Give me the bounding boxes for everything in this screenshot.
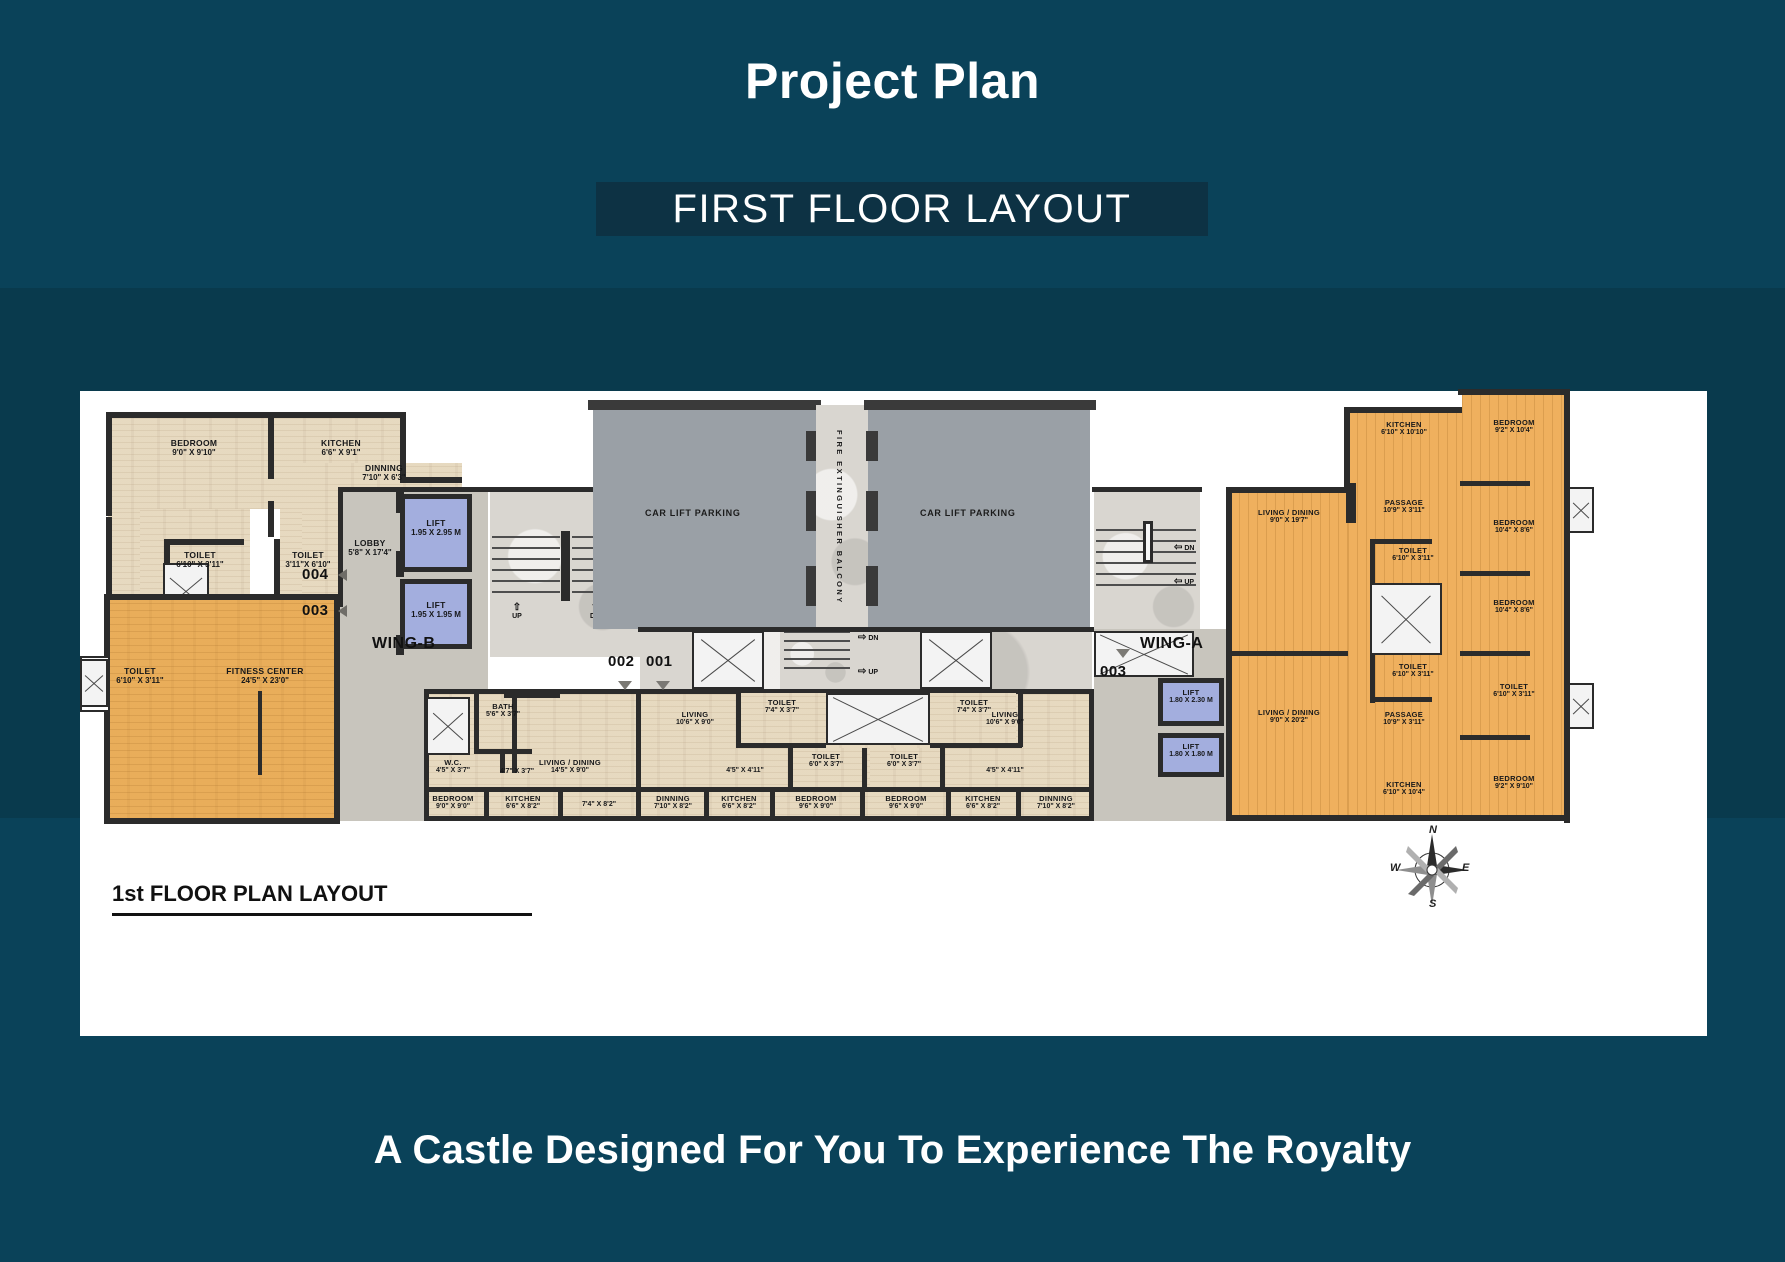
room-toilet-mid-4 (870, 748, 940, 788)
compass-north: N (1429, 824, 1437, 836)
door-arrow-b002 (618, 681, 632, 690)
duct-shaft-5 (426, 697, 470, 755)
room-bedroom-1 (108, 414, 280, 509)
label-fire-extinguisher-balcony: FIRE EXTINGUISHER BALCONY (835, 411, 844, 623)
page-title: Project Plan (0, 52, 1785, 110)
unit-number-b004: 004 (302, 566, 329, 583)
subtitle-text: FIRST FLOOR LAYOUT (673, 187, 1132, 232)
unit-number-b003: 003 (302, 602, 329, 619)
floor-plan-sheet: BEDROOM9'0" X 9'10" KITCHEN6'6" X 9'1" D… (80, 391, 1707, 1036)
room-fitness-center (108, 596, 316, 821)
footer-tagline: A Castle Designed For You To Experience … (0, 1128, 1785, 1173)
wing-b-tag: WING-B (372, 635, 435, 653)
room-toilet-mid-3 (792, 748, 862, 788)
door-arrow-b001 (656, 681, 670, 690)
compass-rose: N S W E (1388, 826, 1476, 914)
label-car-lift-parking-left: CAR LIFT PARKING (645, 508, 741, 518)
plan-caption-text: FLOOR PLAN LAYOUT (144, 881, 388, 906)
duct-shaft-3 (692, 631, 764, 689)
duct-shaft-10 (1568, 487, 1594, 533)
stair-up-right: ⇦ UP (1174, 577, 1208, 587)
room-toilet-mid-2 (930, 693, 1016, 745)
area-right-bedroom-col (1462, 391, 1568, 821)
label-car-lift-parking-right: CAR LIFT PARKING (920, 508, 1016, 518)
room-lift-b1 (400, 494, 472, 572)
compass-south: S (1429, 898, 1436, 910)
unit-number-b001: 001 (646, 653, 673, 670)
floor-plan-drawing: BEDROOM9'0" X 9'10" KITCHEN6'6" X 9'1" D… (80, 391, 1707, 1036)
stair-flight-up-left (492, 536, 560, 596)
unit-number-a003: 003 (1100, 663, 1127, 680)
duct-shaft-2 (80, 659, 108, 707)
plan-caption-rule (112, 913, 532, 916)
stair-dn-mid: ⇨ DN (858, 633, 892, 643)
stair-up-mid: ⇨ UP (858, 667, 892, 677)
compass-west: W (1390, 862, 1400, 874)
subtitle-banner: FIRST FLOOR LAYOUT (596, 182, 1208, 236)
room-fitness-center-ext (316, 596, 336, 821)
duct-shaft-11 (1568, 683, 1594, 729)
door-arrow-b003 (338, 605, 347, 617)
door-arrow-a003 (1116, 649, 1130, 658)
stair-flight-mid (784, 631, 850, 671)
stair-up-left: ⇧UP (498, 603, 536, 620)
room-lift-a2 (1158, 733, 1224, 777)
unit-number-b002: 002 (608, 653, 635, 670)
door-arrow-b004 (338, 569, 347, 581)
plan-caption: 1st FLOOR PLAN LAYOUT (112, 881, 387, 907)
duct-shaft-6 (826, 693, 930, 745)
duct-shaft-4 (920, 631, 992, 689)
room-lift-a1 (1158, 678, 1224, 726)
duct-shaft-9 (1370, 583, 1442, 655)
compass-east: E (1462, 862, 1469, 874)
stair-dn-right: ⇦ DN (1174, 543, 1208, 553)
plan-caption-prefix: 1st (112, 881, 144, 906)
room-toilet-mid-1 (740, 693, 826, 745)
wing-a-tag: WING-A (1140, 635, 1203, 653)
